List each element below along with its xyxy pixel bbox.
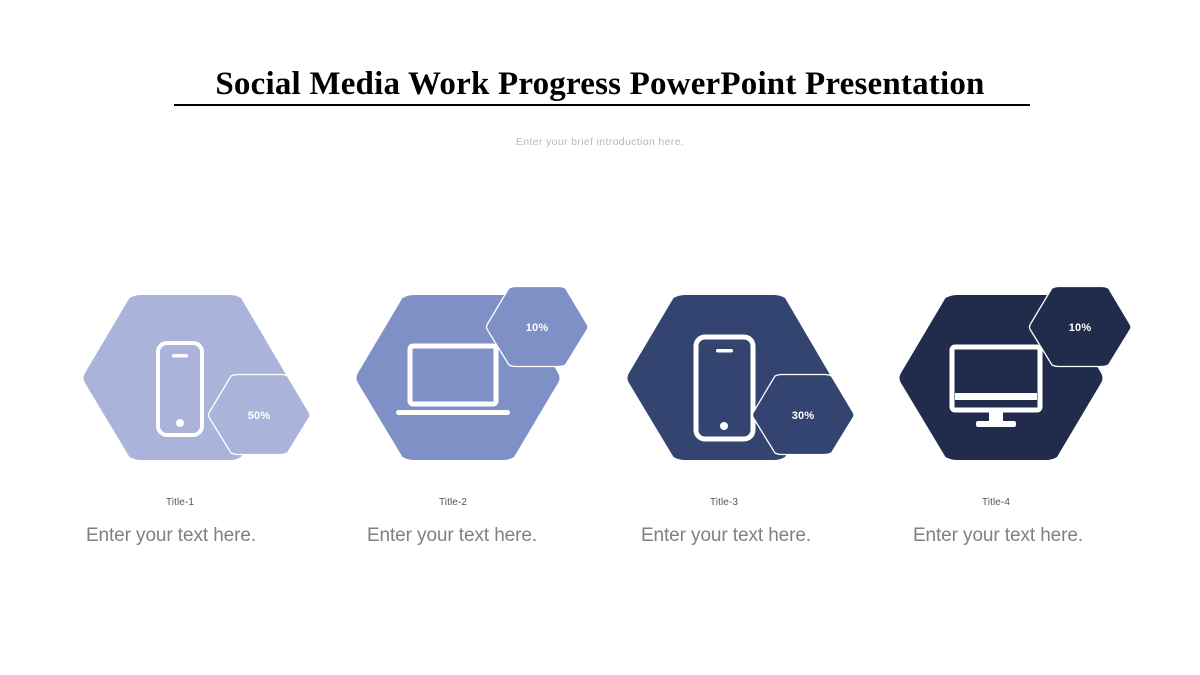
percent-label-3: 30% bbox=[792, 410, 815, 422]
item-body-2: Enter your text here. bbox=[316, 525, 588, 547]
page-title: Social Media Work Progress PowerPoint Pr… bbox=[0, 64, 1200, 104]
page-subtitle: Enter your brief introduction here. bbox=[0, 136, 1200, 148]
hexagon-group-2[interactable]: 10% Title-2 Enter your text here. bbox=[317, 285, 589, 585]
item-title-1: Title-1 bbox=[44, 497, 316, 508]
hexagon-art-2: 10% bbox=[317, 285, 589, 480]
title-underline bbox=[174, 104, 1030, 106]
tablet-speaker bbox=[716, 349, 733, 353]
item-body-3: Enter your text here. bbox=[590, 525, 862, 547]
item-title-3: Title-3 bbox=[588, 497, 860, 508]
hexagon-group-row: 50% Title-1 Enter your text here. 10% bbox=[0, 285, 1200, 585]
percent-label-1: 50% bbox=[248, 410, 271, 422]
smartphone-home-button bbox=[176, 419, 184, 427]
hexagon-group-1[interactable]: 50% Title-1 Enter your text here. bbox=[44, 285, 316, 585]
smartphone-speaker bbox=[172, 354, 188, 358]
tablet-home-button bbox=[720, 422, 728, 430]
hexagon-art-4: 10% bbox=[860, 285, 1132, 480]
item-body-1: Enter your text here. bbox=[35, 525, 307, 547]
hexagon-group-4[interactable]: 10% Title-4 Enter your text here. bbox=[860, 285, 1132, 585]
item-title-4: Title-4 bbox=[860, 497, 1132, 508]
item-title-2: Title-2 bbox=[317, 497, 589, 508]
hexagon-art-1: 50% bbox=[44, 285, 316, 480]
percent-label-4: 10% bbox=[1069, 322, 1092, 334]
hexagon-group-3[interactable]: 30% Title-3 Enter your text here. bbox=[588, 285, 860, 585]
item-body-4: Enter your text here. bbox=[862, 525, 1134, 547]
percent-label-2: 10% bbox=[526, 322, 549, 334]
slide-canvas: Social Media Work Progress PowerPoint Pr… bbox=[0, 0, 1200, 675]
hexagon-art-3: 30% bbox=[588, 285, 860, 480]
